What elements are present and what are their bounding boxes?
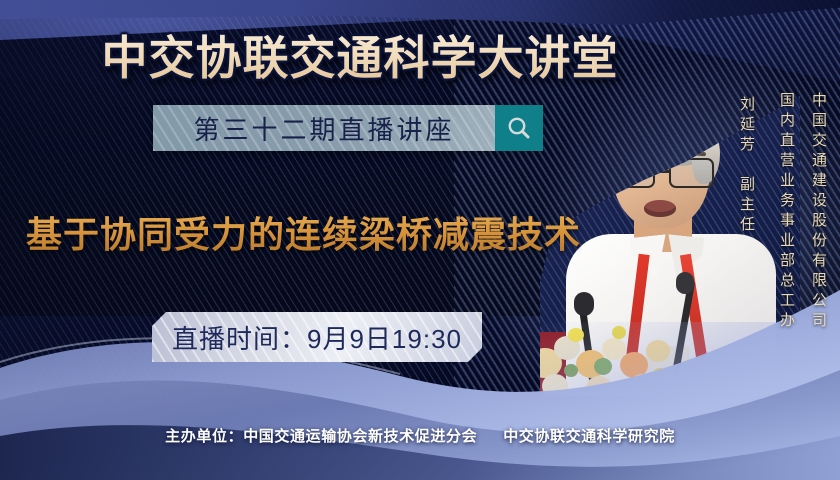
organizer-org-2: 中交协联交通科学研究院 [503,428,675,445]
episode-label: 第三十二期直播讲座 [193,110,454,147]
organizer-org-1: 中国交通运输协会新技术促进分会 [243,428,477,445]
broadcast-time-banner: 直播时间：9月9日19:30 [152,312,482,362]
speaker-company: 中国交通建设股份有限公司 [811,92,826,332]
search-button[interactable] [495,105,543,151]
speaker-name-title: 刘延芳 副主任 [739,96,754,236]
lecture-subtitle: 基于协同受力的连续梁桥减震技术 [26,206,606,258]
search-icon [505,114,533,142]
page-title: 中交协联交通科学大讲堂 [0,22,720,88]
episode-search-bar[interactable]: 第三十二期直播讲座 [153,105,543,151]
organizer-footer: 主办单位：中国交通运输协会新技术促进分会中交协联交通科学研究院 [0,425,840,446]
webinar-poster: 中交协联交通科学大讲堂 第三十二期直播讲座 基于协同受力的连续梁桥减震技术 直播… [0,0,840,480]
organizer-label: 主办单位： [165,428,243,445]
broadcast-time-text: 直播时间：9月9日19:30 [172,319,462,356]
search-input[interactable]: 第三十二期直播讲座 [153,105,495,151]
speaker-department: 国内直营业务事业部总工办 [779,92,794,332]
speaker-mouth [644,200,676,217]
